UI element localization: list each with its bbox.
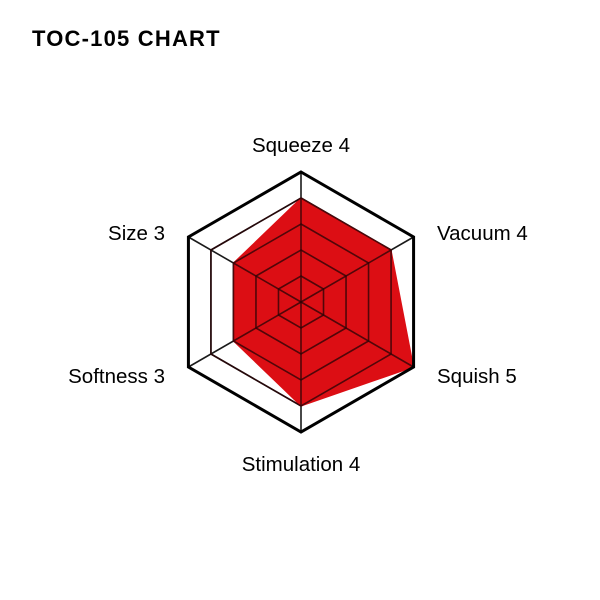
radar-chart: Squeeze 4 Vacuum 4 Squish 5 Stimulation … [0, 0, 600, 600]
axis-label-squeeze: Squeeze 4 [252, 134, 350, 157]
axis-label-softness: Softness 3 [68, 365, 165, 388]
axis-label-stimulation: Stimulation 4 [242, 453, 361, 476]
axis-label-vacuum: Vacuum 4 [437, 222, 528, 245]
axis-label-size: Size 3 [108, 222, 165, 245]
axis-label-squish: Squish 5 [437, 365, 517, 388]
